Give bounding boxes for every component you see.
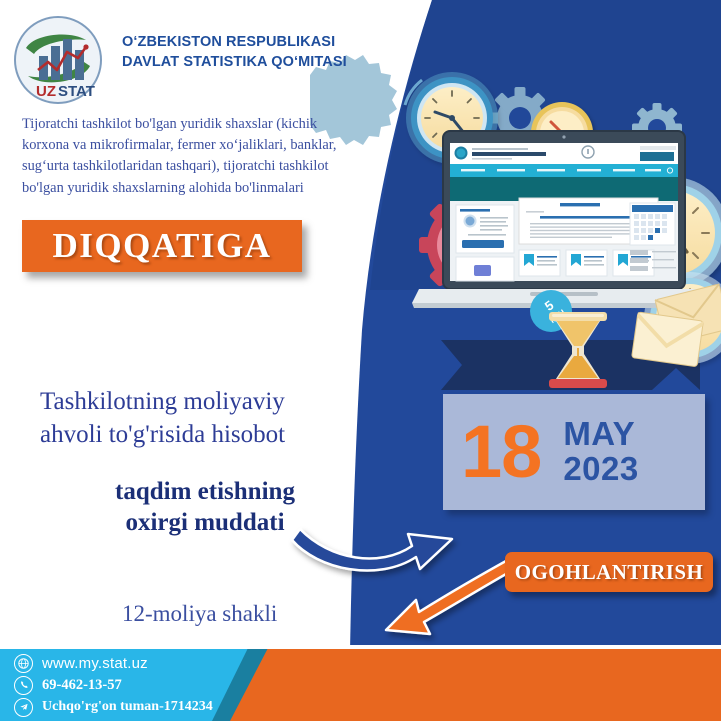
footer-bar: www.my.stat.uz 69-462-13-57 Uchqo'rg'on … bbox=[0, 648, 721, 721]
poster-canvas: 5 MIN bbox=[0, 0, 721, 721]
attention-badge-label: DIQQATIGA bbox=[53, 226, 272, 266]
date-month: MAY bbox=[563, 417, 638, 452]
logo-uz-text: UZ bbox=[36, 83, 56, 100]
warning-badge-label: OGOHLANTIRISH bbox=[515, 560, 703, 585]
deadline-line2: oxirgi muddati bbox=[55, 508, 355, 539]
svg-text:5: 5 bbox=[542, 297, 557, 313]
laptop-illustration bbox=[412, 131, 716, 308]
organization-title: O‘ZBEKISTON RESPUBLIKASI DAVLAT STATISTI… bbox=[122, 33, 392, 72]
svg-text:MIN: MIN bbox=[548, 307, 567, 325]
headline-line2: ahvoli to'g'risida hisobot bbox=[40, 419, 370, 452]
warning-badge: OGOHLANTIRISH bbox=[505, 552, 713, 592]
deadline-line1: taqdim etishning bbox=[55, 477, 355, 508]
org-title-line2: DAVLAT STATISTIKA QO‘MITASI bbox=[122, 53, 392, 73]
globe-icon bbox=[14, 654, 33, 673]
contact-block: www.my.stat.uz 69-462-13-57 Uchqo'rg'on … bbox=[14, 652, 244, 718]
intro-paragraph: Tijoratchi tashkilot bo'lgan yuridik sha… bbox=[22, 114, 342, 199]
telegram-icon bbox=[14, 698, 33, 717]
uzstat-logo: UZ STAT bbox=[12, 14, 104, 106]
background-illustration: 5 MIN bbox=[0, 0, 721, 721]
attention-badge: DIQQATIGA bbox=[22, 220, 302, 272]
headline-text: Tashkilotning moliyaviy ahvoli to'g'risi… bbox=[40, 386, 370, 451]
deadline-date-panel: 18 MAY 2023 bbox=[443, 394, 705, 510]
date-month-year: MAY 2023 bbox=[563, 417, 638, 486]
contact-address-row[interactable]: Uchqo'rg'on tuman-1714234 bbox=[14, 696, 244, 718]
date-day: 18 bbox=[461, 415, 541, 489]
form-name-label: 12-moliya shakli bbox=[122, 601, 277, 627]
date-year: 2023 bbox=[563, 452, 638, 487]
logo-stat-text: STAT bbox=[58, 83, 95, 100]
address-text[interactable]: Uchqo'rg'on tuman-1714234 bbox=[42, 699, 213, 715]
phone-icon bbox=[14, 676, 33, 695]
website-text[interactable]: www.my.stat.uz bbox=[42, 655, 148, 672]
headline-line1: Tashkilotning moliyaviy bbox=[40, 386, 370, 419]
phone-text[interactable]: 69-462-13-57 bbox=[42, 677, 122, 694]
org-title-line1: O‘ZBEKISTON RESPUBLIKASI bbox=[122, 33, 392, 53]
deadline-text: taqdim etishning oxirgi muddati bbox=[55, 477, 355, 538]
contact-website-row[interactable]: www.my.stat.uz bbox=[14, 652, 244, 674]
contact-phone-row[interactable]: 69-462-13-57 bbox=[14, 674, 244, 696]
